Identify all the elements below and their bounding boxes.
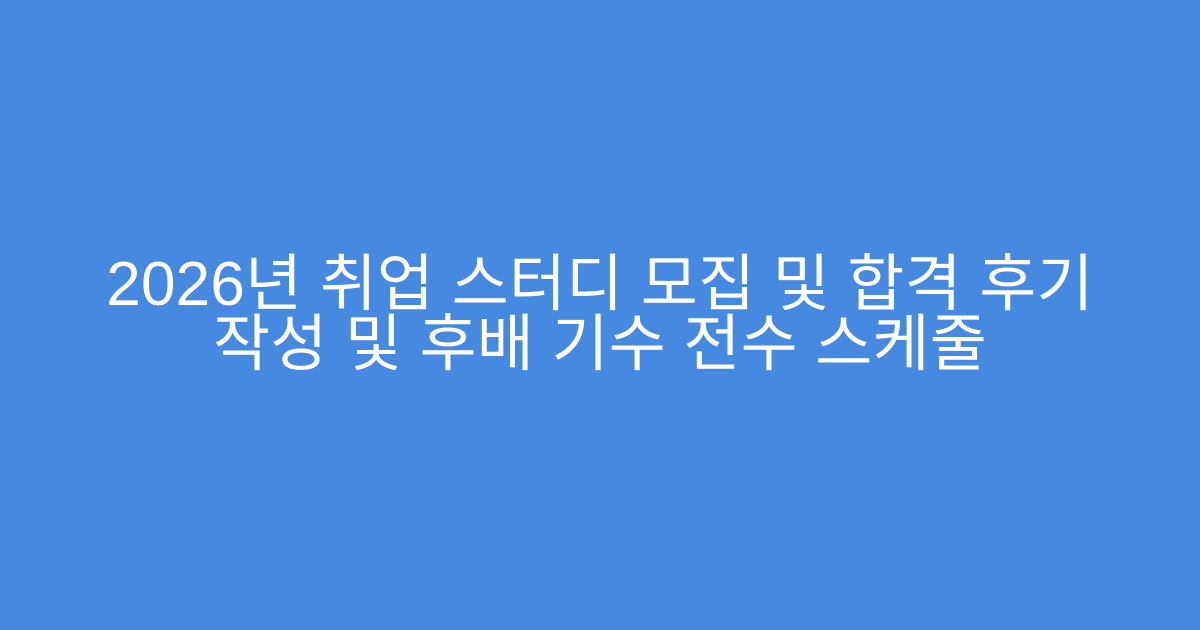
social-share-card: 2026년 취업 스터디 모집 및 합격 후기 작성 및 후배 기수 전수 스케… <box>0 0 1200 630</box>
card-content-block: 2026년 취업 스터디 모집 및 합격 후기 작성 및 후배 기수 전수 스케… <box>95 255 1105 375</box>
page-title: 2026년 취업 스터디 모집 및 합격 후기 작성 및 후배 기수 전수 스케… <box>95 255 1105 375</box>
